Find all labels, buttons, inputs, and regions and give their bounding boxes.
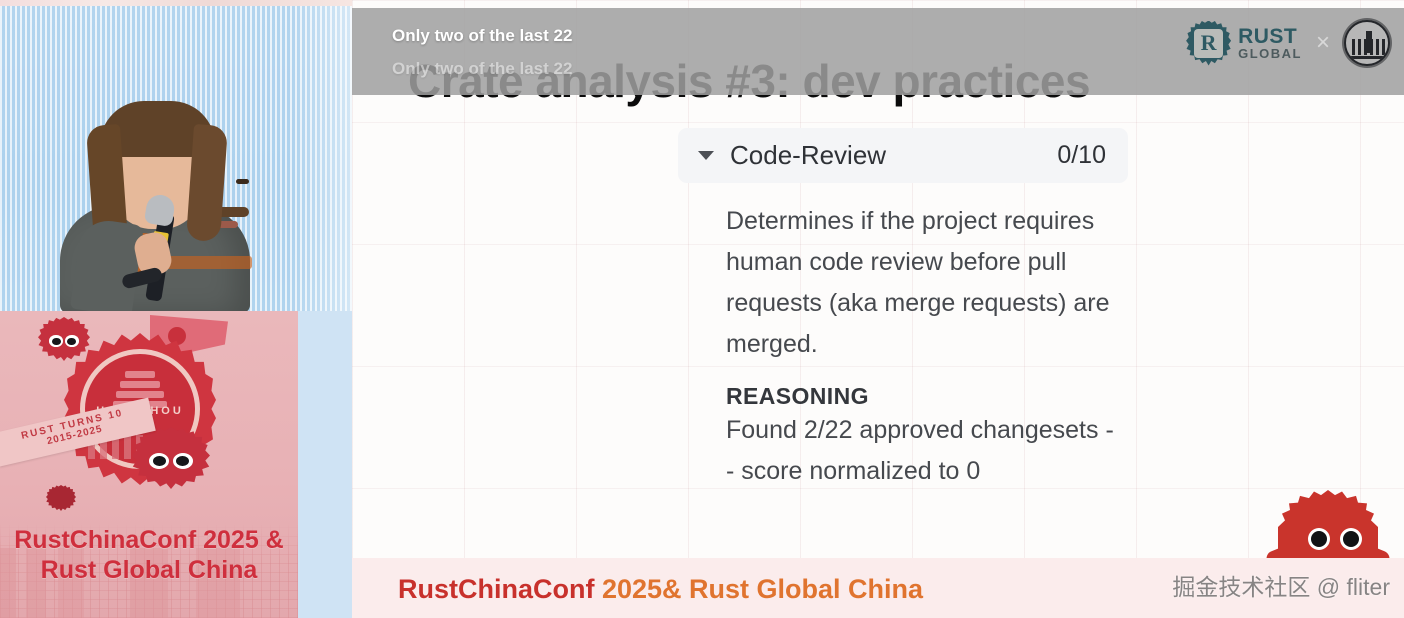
tshirt-text [160, 256, 252, 269]
cross-separator-icon: × [1316, 29, 1330, 57]
banner-title-line-1: RustChinaConf 2025 & [0, 525, 298, 555]
chevron-down-icon[interactable] [698, 151, 714, 160]
banner-title: RustChinaConf 2025 & Rust Global China [0, 525, 298, 585]
speaker-eye-right [236, 179, 249, 184]
rust-global-logo: R RUST GLOBAL [1186, 21, 1302, 66]
rust-logo-letter: R [1186, 21, 1231, 66]
global-word: GLOBAL [1238, 47, 1302, 60]
rust-global-wordmark: RUST GLOBAL [1238, 26, 1302, 60]
code-review-card: Code-Review 0/10 Determines if the proje… [678, 128, 1128, 492]
card-title: Code-Review [730, 140, 1057, 171]
caption-overlay-bar: Only two of the last 22 Only two of the … [352, 8, 1404, 95]
screen-capture: HANGZHOU RUST TURNS 10 2015-2025 RustChi… [0, 0, 1404, 618]
logo-group: R RUST GLOBAL × [1186, 20, 1390, 66]
speaker-video-panel: HANGZHOU RUST TURNS 10 2015-2025 RustChi… [0, 0, 352, 618]
watermark-text: 掘金技术社区 @ fliter [1172, 568, 1390, 602]
card-description: Determines if the project requires human… [726, 201, 1124, 365]
footer-brand: RustChinaConf 2025& Rust Global China [398, 574, 923, 605]
footer-brand-secondary: 2025& Rust Global China [594, 574, 923, 604]
city-seal-icon [1344, 20, 1390, 66]
rust-word: RUST [1238, 26, 1302, 47]
card-body: Determines if the project requires human… [678, 183, 1128, 492]
banner-title-line-2: Rust Global China [0, 555, 298, 585]
banner-crab-tiny [46, 485, 76, 511]
conference-backdrop-banner: HANGZHOU RUST TURNS 10 2015-2025 RustChi… [0, 311, 298, 618]
rust-gear-icon: R [1186, 21, 1231, 66]
card-score-badge: 0/10 [1057, 141, 1106, 170]
caption-previous-line: Only two of the last 22 [392, 59, 572, 79]
speaker-figure [40, 95, 270, 313]
footer-brand-primary: RustChinaConf [398, 574, 594, 604]
caption-current-line: Only two of the last 22 [392, 26, 572, 46]
card-header[interactable]: Code-Review 0/10 [678, 128, 1128, 183]
reasoning-heading: REASONING [726, 383, 1124, 410]
reasoning-text: Found 2/22 approved changesets -- score … [726, 410, 1118, 492]
